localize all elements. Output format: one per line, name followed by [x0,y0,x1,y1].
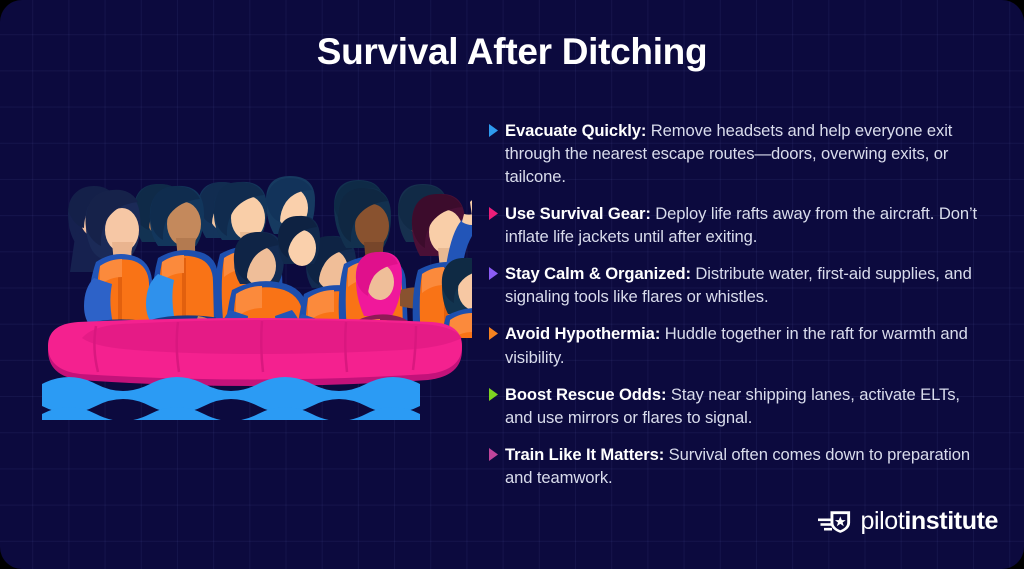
brand-wordmark: pilotinstitute [861,507,999,536]
list-item: Train Like It Matters: Survival often co… [489,443,986,489]
list-item-text: Evacuate Quickly: Remove headsets and he… [505,119,986,188]
triangle-right-icon [489,207,498,220]
brand-logo: pilotinstitute [818,507,999,536]
list-item-text: Use Survival Gear: Deploy life rafts awa… [505,202,986,248]
triangle-right-icon [489,448,498,461]
list-item-term: Boost Rescue Odds: [505,385,666,404]
list-item: Evacuate Quickly: Remove headsets and he… [489,119,986,188]
list-item-term: Stay Calm & Organized: [505,264,691,283]
list-item-text: Stay Calm & Organized: Distribute water,… [505,262,986,308]
list-item-term: Evacuate Quickly: [505,121,646,140]
list-item-text: Boost Rescue Odds: Stay near shipping la… [505,383,986,429]
list-item: Use Survival Gear: Deploy life rafts awa… [489,202,986,248]
person-small-head [278,216,320,266]
list-item-term: Use Survival Gear: [505,204,651,223]
life-raft [48,318,462,386]
list-item-text: Train Like It Matters: Survival often co… [505,443,986,489]
brand-word-light: pilot [861,507,905,535]
list-item: Avoid Hypothermia: Huddle together in th… [489,322,986,368]
winged-shield-star-icon [818,509,852,535]
list-item-text: Avoid Hypothermia: Huddle together in th… [505,322,986,368]
list-item: Boost Rescue Odds: Stay near shipping la… [489,383,986,429]
triangle-right-icon [489,267,498,280]
list-item: Stay Calm & Organized: Distribute water,… [489,262,986,308]
people-in-life-raft-illustration [38,170,472,420]
triangle-right-icon [489,388,498,401]
list-item-term: Avoid Hypothermia: [505,324,660,343]
brand-word-bold: institute [904,507,998,535]
triangle-right-icon [489,124,498,137]
triangle-right-icon [489,327,498,340]
survival-tips-list: Evacuate Quickly: Remove headsets and he… [489,119,986,503]
infographic-canvas: Survival After Ditching [0,0,1024,569]
page-title: Survival After Ditching [0,31,1024,73]
list-item-term: Train Like It Matters: [505,445,664,464]
